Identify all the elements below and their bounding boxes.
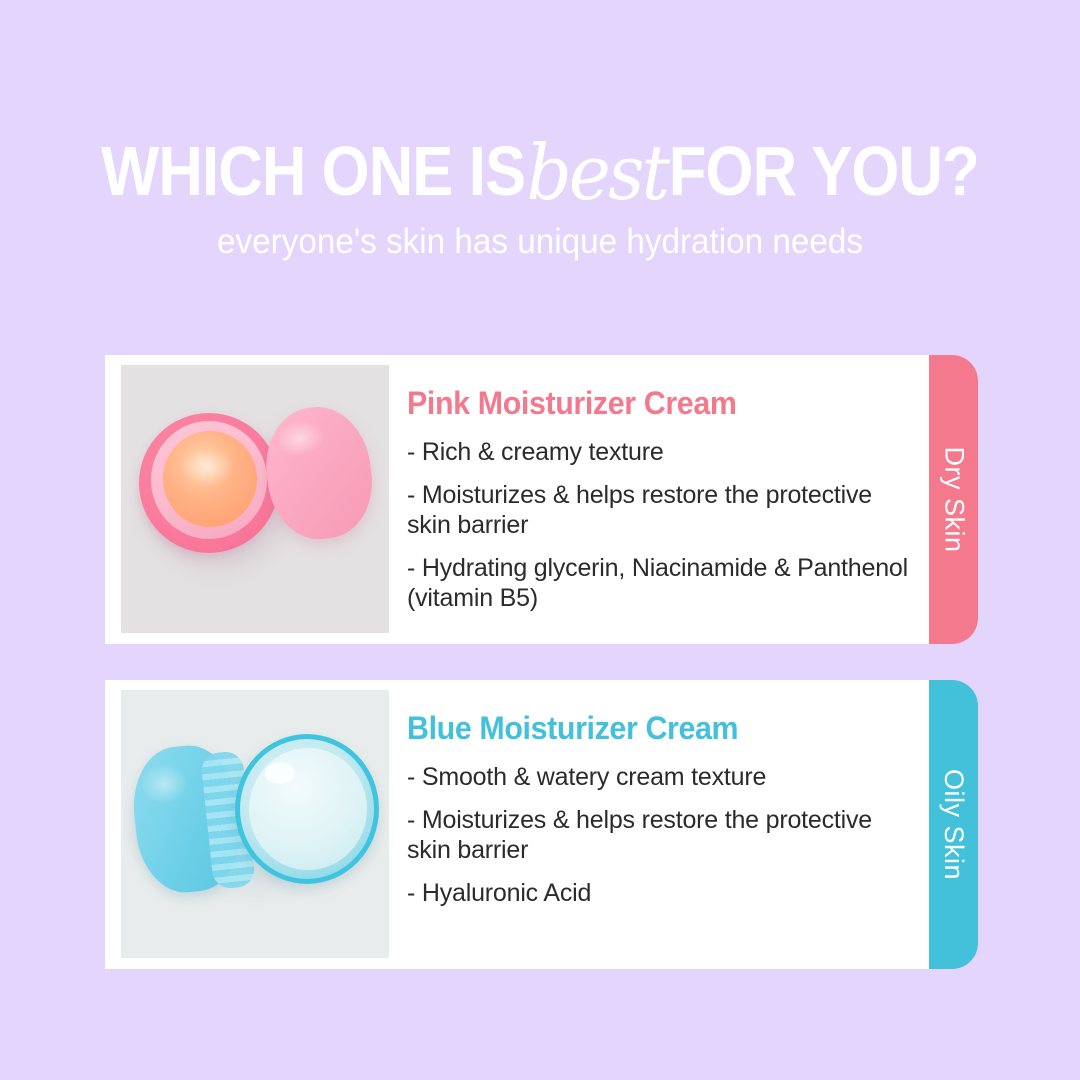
product-card-pink[interactable]: Pink Moisturizer Cream - Rich & creamy t… [105,355,978,644]
headline-script-word: best [521,136,673,210]
pink-moisturizer-jar-photo [121,365,389,633]
blue-moisturizer-jar-photo [121,690,389,958]
product-card-text: Pink Moisturizer Cream - Rich & creamy t… [389,365,917,626]
product-title: Pink Moisturizer Cream [407,385,892,421]
headline-part-two: FOR YOU? [669,132,979,210]
product-card-blue[interactable]: Blue Moisturizer Cream - Smooth & watery… [105,680,978,969]
product-bullet: - Hyaluronic Acid [407,878,917,908]
product-bullet: - Hydrating glycerin, Niacinamide & Pant… [407,553,917,613]
header: WHICH ONE ISbestFOR YOU? everyone's skin… [0,132,1080,262]
pink-cream-surface-icon [163,431,257,527]
product-bullet: - Smooth & watery cream texture [407,762,917,792]
skin-type-tab-oily-skin[interactable]: Oily Skin [929,680,978,969]
product-card-body: Pink Moisturizer Cream - Rich & creamy t… [105,355,929,644]
skin-type-tab-label: Dry Skin [938,446,969,552]
product-title: Blue Moisturizer Cream [407,710,892,746]
product-card-body: Blue Moisturizer Cream - Smooth & watery… [105,680,929,969]
headline-part-one: WHICH ONE IS [101,132,525,210]
product-card-text: Blue Moisturizer Cream - Smooth & watery… [389,690,917,921]
product-bullet: - Moisturizes & helps restore the protec… [407,480,917,540]
page-title: WHICH ONE ISbestFOR YOU? [65,132,1015,208]
blue-gel-surface-icon [249,748,367,870]
product-bullet: - Rich & creamy texture [407,437,917,467]
product-bullet: - Moisturizes & helps restore the protec… [407,805,917,865]
skin-type-tab-label: Oily Skin [938,769,969,880]
page-subtitle: everyone's skin has unique hydration nee… [27,222,1053,262]
skin-type-tab-dry-skin[interactable]: Dry Skin [929,355,978,644]
